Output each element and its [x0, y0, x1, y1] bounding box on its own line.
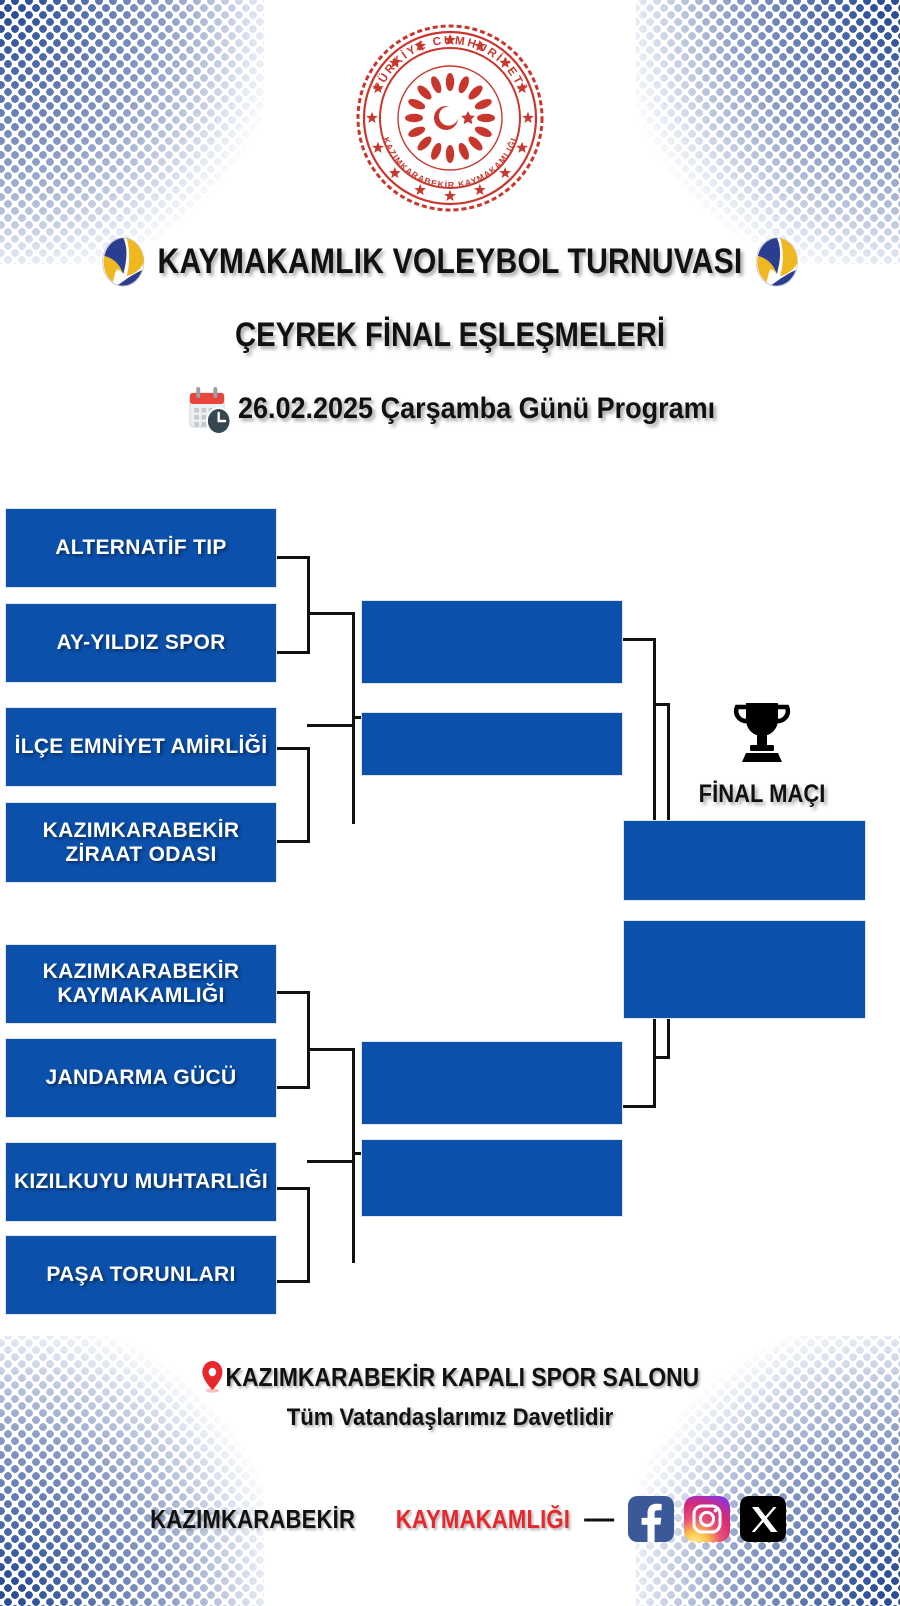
team-label: ALTERNATİF TIP	[55, 536, 226, 560]
venue-row: KAZIMKARABEKİR KAPALI SPOR SALONU	[54, 1360, 846, 1394]
bracket-connector	[623, 1105, 656, 1108]
team-box-kizilkuyu-muhtarligi[interactable]: KIZILKUYU MUHTARLIĞI	[5, 1142, 277, 1222]
team-label: İLÇE EMNİYET AMİRLİĞİ	[15, 735, 268, 759]
venue-name: KAZIMKARABEKİR KAPALI SPOR SALONU	[225, 1362, 699, 1393]
bracket-connector	[307, 1048, 354, 1051]
bracket-connector	[653, 638, 656, 850]
team-box-ay-yildiz-spor[interactable]: AY-YILDIZ SPOR	[5, 603, 277, 683]
bracket-connector	[307, 991, 310, 1089]
footer-bar: KAZIMKARABEKİR KAYMAKAMLIĞI —	[0, 1496, 900, 1542]
final-match-block: FİNAL MAÇI	[672, 695, 852, 809]
bracket-connector	[653, 703, 670, 706]
trophy-icon	[722, 695, 802, 773]
semifinal-slot-4[interactable]	[361, 1139, 623, 1217]
bracket-connector	[307, 724, 354, 727]
instagram-icon[interactable]	[684, 1496, 730, 1542]
team-label: JANDARMA GÜCÜ	[46, 1066, 237, 1090]
bracket-connector	[277, 991, 310, 994]
footer-name-primary: KAZIMKARABEKİR	[150, 1504, 355, 1535]
team-box-kazimkarabekir-ziraat-odasi[interactable]: KAZIMKARABEKİR ZİRAAT ODASI	[5, 802, 277, 883]
team-label: KIZILKUYU MUHTARLIĞI	[14, 1170, 268, 1194]
bracket-connector	[277, 747, 310, 750]
final-match-label: FİNAL MAÇI	[683, 780, 841, 809]
team-label: KAZIMKARABEKİR ZİRAAT ODASI	[43, 819, 240, 866]
team-label: KAZIMKARABEKİR KAYMAKAMLIĞI	[43, 960, 240, 1007]
team-box-ilce-emniyet-amirligi[interactable]: İLÇE EMNİYET AMİRLİĞİ	[5, 707, 277, 787]
team-box-jandarma-gucu[interactable]: JANDARMA GÜCÜ	[5, 1038, 277, 1118]
bracket-connector	[307, 1160, 354, 1163]
bracket-connector	[653, 1056, 670, 1059]
invitation-text: Tüm Vatandaşlarımız Davetlidir	[36, 1404, 864, 1432]
team-box-pasa-torunlari[interactable]: PAŞA TORUNLARI	[5, 1235, 277, 1315]
bracket-connector	[277, 1086, 310, 1089]
semifinal-slot-2[interactable]	[361, 712, 623, 776]
bracket-connector	[307, 1187, 310, 1283]
x-twitter-icon[interactable]	[740, 1496, 786, 1542]
bracket-connector	[277, 556, 310, 559]
team-label: AY-YILDIZ SPOR	[56, 631, 225, 655]
footer-separator: —	[584, 1502, 614, 1536]
bracket-connector	[277, 840, 310, 843]
bracket-connector	[623, 638, 656, 641]
team-box-kazimkarabekir-kaymakamligi[interactable]: KAZIMKARABEKİR KAYMAKAMLIĞI	[5, 944, 277, 1024]
bracket-connector	[352, 1048, 355, 1263]
bracket-connector	[277, 651, 310, 654]
final-slot-2[interactable]	[623, 920, 866, 1019]
bracket-connector	[667, 1019, 670, 1057]
bracket-connector	[307, 747, 310, 843]
team-box-alternatif-tip[interactable]: ALTERNATİF TIP	[5, 508, 277, 588]
location-pin-icon	[201, 1360, 224, 1394]
footer-name-secondary: KAYMAKAMLIĞI	[396, 1504, 570, 1535]
venue-block: KAZIMKARABEKİR KAPALI SPOR SALONU Tüm Va…	[0, 1360, 900, 1432]
semifinal-slot-3[interactable]	[361, 1041, 623, 1125]
facebook-icon[interactable]	[628, 1496, 674, 1542]
bracket-connector	[307, 556, 310, 654]
bracket-connector	[277, 1280, 310, 1283]
team-label: PAŞA TORUNLARI	[46, 1263, 235, 1287]
bracket-connector	[667, 703, 670, 839]
final-slot-1[interactable]	[623, 820, 866, 901]
bracket-connector	[307, 612, 354, 615]
semifinal-slot-1[interactable]	[361, 600, 623, 684]
bracket-connector	[277, 1187, 310, 1190]
